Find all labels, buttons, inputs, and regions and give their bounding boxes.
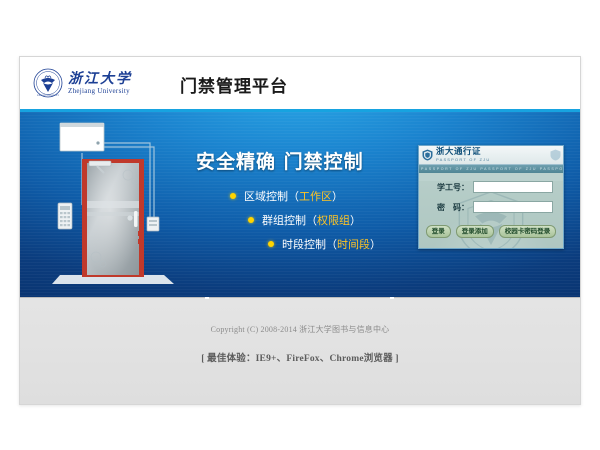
login-panel-ribbon: PASSPORT OF ZJU PASSPORT OF ZJU PASSPORT… (419, 165, 563, 173)
access-control-door-illustration (42, 117, 187, 295)
shield-icon (422, 149, 433, 161)
feature-bullet-text: 区域控制（ (244, 188, 299, 204)
footer-notch (390, 297, 394, 299)
feature-bullet-suffix: ） (350, 212, 361, 228)
university-logo[interactable]: ZHEJIANG UNIVERSITY 浙江大学 Zhejiang Univer… (33, 68, 132, 98)
bullet-dot-icon (230, 193, 236, 199)
student-id-row: 学工号： (419, 181, 563, 193)
zju-shield-watermark-icon (455, 189, 527, 249)
feature-bullet-highlight: 权限组 (317, 212, 350, 228)
login-button-row: 登录 登录添加 校园卡密码登录 (419, 225, 563, 238)
feature-bullet-item: 时段控制（时间段） (196, 236, 406, 252)
shield-icon (550, 149, 561, 161)
page-header: ZHEJIANG UNIVERSITY 浙江大学 Zhejiang Univer… (20, 57, 580, 109)
feature-bullet-highlight: 时间段 (337, 236, 370, 252)
copyright-text: Copyright (C) 2008-2014 浙江大学图书与信息中心 (20, 324, 580, 335)
app-card: ZHEJIANG UNIVERSITY 浙江大学 Zhejiang Univer… (19, 56, 581, 405)
bullet-dot-icon (268, 241, 274, 247)
page-title: 门禁管理平台 (180, 72, 288, 97)
student-id-label: 学工号： (427, 182, 469, 193)
login-button[interactable]: 登录 (426, 225, 451, 238)
login-add-button[interactable]: 登录添加 (456, 225, 494, 238)
feature-bullet-suffix: ） (332, 188, 343, 204)
university-name-cn: 浙江大学 (68, 72, 132, 86)
student-id-field[interactable] (473, 181, 553, 193)
login-panel-title-stack: 浙大通行证 PASSPORT OF ZJU (436, 148, 490, 162)
feature-bullet-list: 区域控制（工作区） 群组控制（权限组） 时段控制（时间段） (196, 188, 406, 252)
login-panel-ribbon-text: PASSPORT OF ZJU PASSPORT OF ZJU PASSPORT… (419, 167, 563, 171)
page-root: ZHEJIANG UNIVERSITY 浙江大学 Zhejiang Univer… (0, 0, 600, 450)
feature-bullet-suffix: ） (370, 236, 381, 252)
banner-top-accent (20, 109, 580, 112)
password-row: 密 码： (419, 201, 563, 213)
login-form: 学工号： 密 码： 登录 登录添加 校园卡密码登录 (419, 181, 563, 249)
password-label: 密 码： (427, 202, 469, 213)
university-name-en: Zhejiang University (68, 88, 132, 95)
feature-bullet-item: 群组控制（权限组） (196, 212, 406, 228)
login-panel-title-cn: 浙大通行证 (436, 148, 490, 157)
feature-bullet-item: 区域控制（工作区） (196, 188, 406, 204)
feature-bullet-highlight: 工作区 (299, 188, 332, 204)
zju-seal-icon: ZHEJIANG UNIVERSITY (33, 68, 63, 98)
campus-card-login-button[interactable]: 校园卡密码登录 (499, 225, 557, 238)
hero-banner: 安全精确 门禁控制 区域控制（工作区） 群组控制（权限组） 时段控制（时间段） (20, 109, 580, 297)
login-panel-title-en: PASSPORT OF ZJU (436, 158, 490, 162)
login-panel-titlebar: 浙大通行证 PASSPORT OF ZJU (419, 146, 563, 165)
footer-notch (205, 297, 209, 299)
login-panel: 浙大通行证 PASSPORT OF ZJU PASSPORT OF ZJU PA… (418, 145, 564, 249)
university-wordmark: 浙江大学 Zhejiang University (68, 72, 132, 95)
feature-bullet-text: 时段控制（ (282, 236, 337, 252)
banner-headline: 安全精确 门禁控制 (196, 147, 406, 174)
browser-support-note: [ 最佳体验：IE9+、FireFox、Chrome浏览器 ] (20, 350, 580, 364)
bullet-dot-icon (248, 217, 254, 223)
banner-copy: 安全精确 门禁控制 区域控制（工作区） 群组控制（权限组） 时段控制（时间段） (196, 147, 406, 260)
password-field[interactable] (473, 201, 553, 213)
page-footer: Copyright (C) 2008-2014 浙江大学图书与信息中心 [ 最佳… (20, 297, 580, 405)
feature-bullet-text: 群组控制（ (262, 212, 317, 228)
